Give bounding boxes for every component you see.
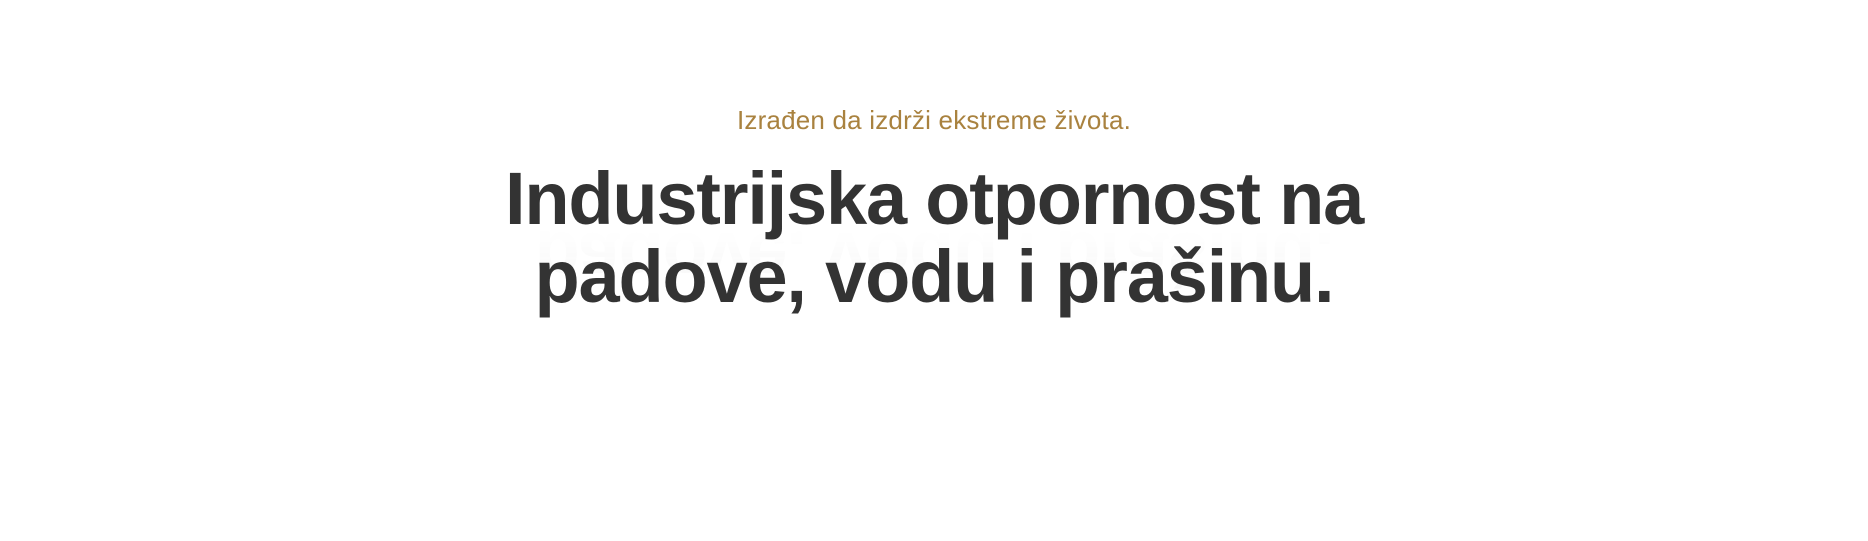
page-title: Industrijska otpornost na padove, vodu i… xyxy=(505,160,1363,317)
hero-section: Izrađen da izdrži ekstreme života. Indus… xyxy=(0,0,1868,541)
hero-eyebrow: Izrađen da izdrži ekstreme života. xyxy=(737,104,1131,138)
headline-line-1: Industrijska otpornost na xyxy=(505,160,1363,238)
hero-headline-wrap: Industrijska otpornost na padove, vodu i… xyxy=(0,160,1868,317)
hero-content: Izrađen da izdrži ekstreme života. Indus… xyxy=(0,104,1868,317)
headline-line-2: padove, vodu i prašinu. xyxy=(505,238,1363,316)
